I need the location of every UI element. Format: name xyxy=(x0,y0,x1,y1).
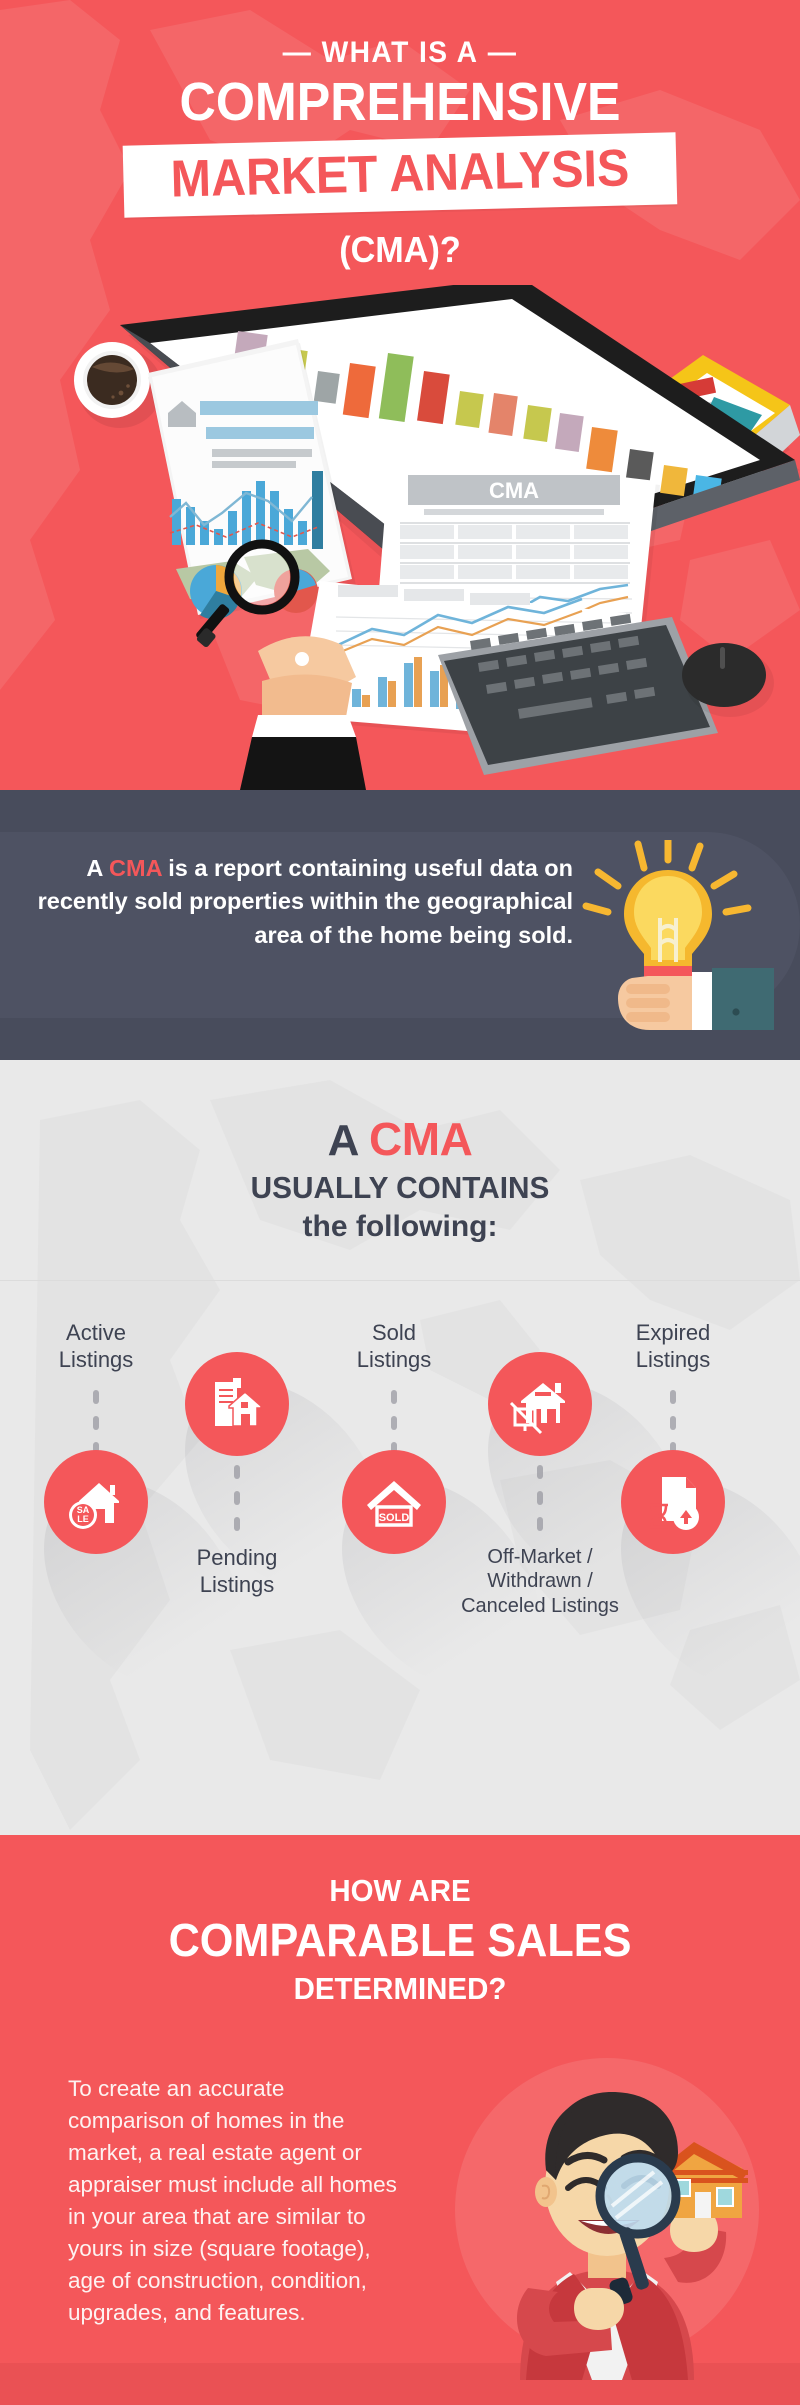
node-circle-sold[interactable]: SOLD xyxy=(342,1450,446,1554)
svg-text:CMA: CMA xyxy=(489,478,539,503)
dot xyxy=(670,1416,676,1430)
man-with-magnifying-glass-and-house-illustration xyxy=(442,2020,772,2380)
node-label-sold: Sold Listings xyxy=(284,1320,504,1374)
hero-banner-wrap: MARKET ANALYSIS xyxy=(0,139,800,215)
dash-right: — xyxy=(488,36,518,70)
hero-banner: MARKET ANALYSIS xyxy=(123,132,678,217)
node-label-expired: Expired Listings xyxy=(563,1320,783,1374)
comparable-head-2: COMPARABLE SALES xyxy=(24,1913,776,1967)
dot xyxy=(234,1517,240,1531)
hero-cma-question: (CMA)? xyxy=(20,229,780,271)
node-label-active-l1: Active xyxy=(0,1320,206,1347)
definition-text: A CMA is a report containing useful data… xyxy=(28,852,573,952)
infographic-page: —WHAT IS A— COMPREHENSIVE MARKET ANALYSI… xyxy=(0,0,800,2405)
definition-section: A CMA is a report containing useful data… xyxy=(0,790,800,1060)
dot xyxy=(234,1465,240,1479)
node-label-offmarket-l2: Withdrawn / xyxy=(430,1569,650,1593)
dot xyxy=(234,1491,240,1505)
comparable-sales-section: HOW ARE COMPARABLE SALES DETERMINED? To … xyxy=(0,1835,800,2405)
dot xyxy=(537,1465,543,1479)
node-label-offmarket: Off-Market / Withdrawn / Canceled Listin… xyxy=(430,1545,650,1618)
comparable-head-1: HOW ARE xyxy=(20,1873,780,1909)
comparable-head-3: DETERMINED? xyxy=(20,1971,780,2007)
dot xyxy=(537,1491,543,1505)
node-circle-pending[interactable] xyxy=(185,1352,289,1456)
definition-highlight: CMA xyxy=(109,855,162,881)
contains-line-3: the following: xyxy=(0,1210,800,1244)
contains-a: A xyxy=(328,1116,369,1165)
definition-prefix: A xyxy=(86,855,109,881)
node-label-sold-l1: Sold xyxy=(284,1320,504,1347)
dot xyxy=(93,1416,99,1430)
svg-text:SOLD: SOLD xyxy=(379,1512,410,1524)
dash-left: — xyxy=(283,36,313,70)
listing-nodes: Active Listings SA LE xyxy=(0,1280,800,1835)
house-with-sold-sign-icon: SOLD xyxy=(363,1471,425,1533)
dot xyxy=(93,1390,99,1404)
node-label-active-l2: Listings xyxy=(0,1347,206,1374)
house-with-sale-badge-icon: SA LE xyxy=(65,1471,127,1533)
node-label-pending-l1: Pending xyxy=(127,1545,347,1572)
dot xyxy=(391,1390,397,1404)
lightbulb-in-hand-icon xyxy=(574,840,774,1030)
contains-line-2: USUALLY CONTAINS xyxy=(16,1170,784,1206)
node-label-offmarket-l1: Off-Market / xyxy=(430,1545,650,1569)
dots-pending xyxy=(234,1465,240,1543)
comparable-body-text: To create an accurate comparison of home… xyxy=(68,2073,398,2329)
comparable-heading: HOW ARE COMPARABLE SALES DETERMINED? xyxy=(0,1835,800,2007)
node-label-expired-l2: Listings xyxy=(563,1347,783,1374)
hero-kicker-text: WHAT IS A xyxy=(322,36,479,69)
hero-section: —WHAT IS A— COMPREHENSIVE MARKET ANALYSI… xyxy=(0,0,800,790)
hero-line-comprehensive: COMPREHENSIVE xyxy=(28,74,772,131)
coffee-cup-icon xyxy=(74,342,162,428)
house-with-document-icon xyxy=(207,1374,267,1434)
svg-text:LE: LE xyxy=(77,1514,89,1524)
contains-heading: A CMA USUALLY CONTAINS the following: xyxy=(0,1060,800,1244)
dot xyxy=(391,1416,397,1430)
node-label-pending-l2: Listings xyxy=(127,1572,347,1599)
dot xyxy=(537,1517,543,1531)
document-with-hourglass-icon xyxy=(642,1471,704,1533)
node-circle-active[interactable]: SA LE xyxy=(44,1450,148,1554)
hero-illustration: CMA xyxy=(0,285,800,790)
node-label-sold-l2: Listings xyxy=(284,1347,504,1374)
dots-offmarket xyxy=(537,1465,543,1543)
hero-kicker: —WHAT IS A— xyxy=(24,36,776,70)
hero-title-block: —WHAT IS A— COMPREHENSIVE MARKET ANALYSI… xyxy=(0,0,800,271)
node-circle-expired[interactable] xyxy=(621,1450,725,1554)
contains-cma: CMA xyxy=(369,1113,472,1165)
contains-section: A CMA USUALLY CONTAINS the following: Ac… xyxy=(0,1060,800,1835)
node-label-expired-l1: Expired xyxy=(563,1320,783,1347)
dot xyxy=(670,1390,676,1404)
node-label-pending: Pending Listings xyxy=(127,1545,347,1599)
hero-banner-text: MARKET ANALYSIS xyxy=(170,142,630,205)
node-label-active: Active Listings xyxy=(0,1320,206,1374)
house-with-crossed-out-sign-icon xyxy=(509,1373,571,1435)
contains-line-1: A CMA xyxy=(0,1112,800,1166)
node-label-offmarket-l3: Canceled Listings xyxy=(430,1594,650,1618)
